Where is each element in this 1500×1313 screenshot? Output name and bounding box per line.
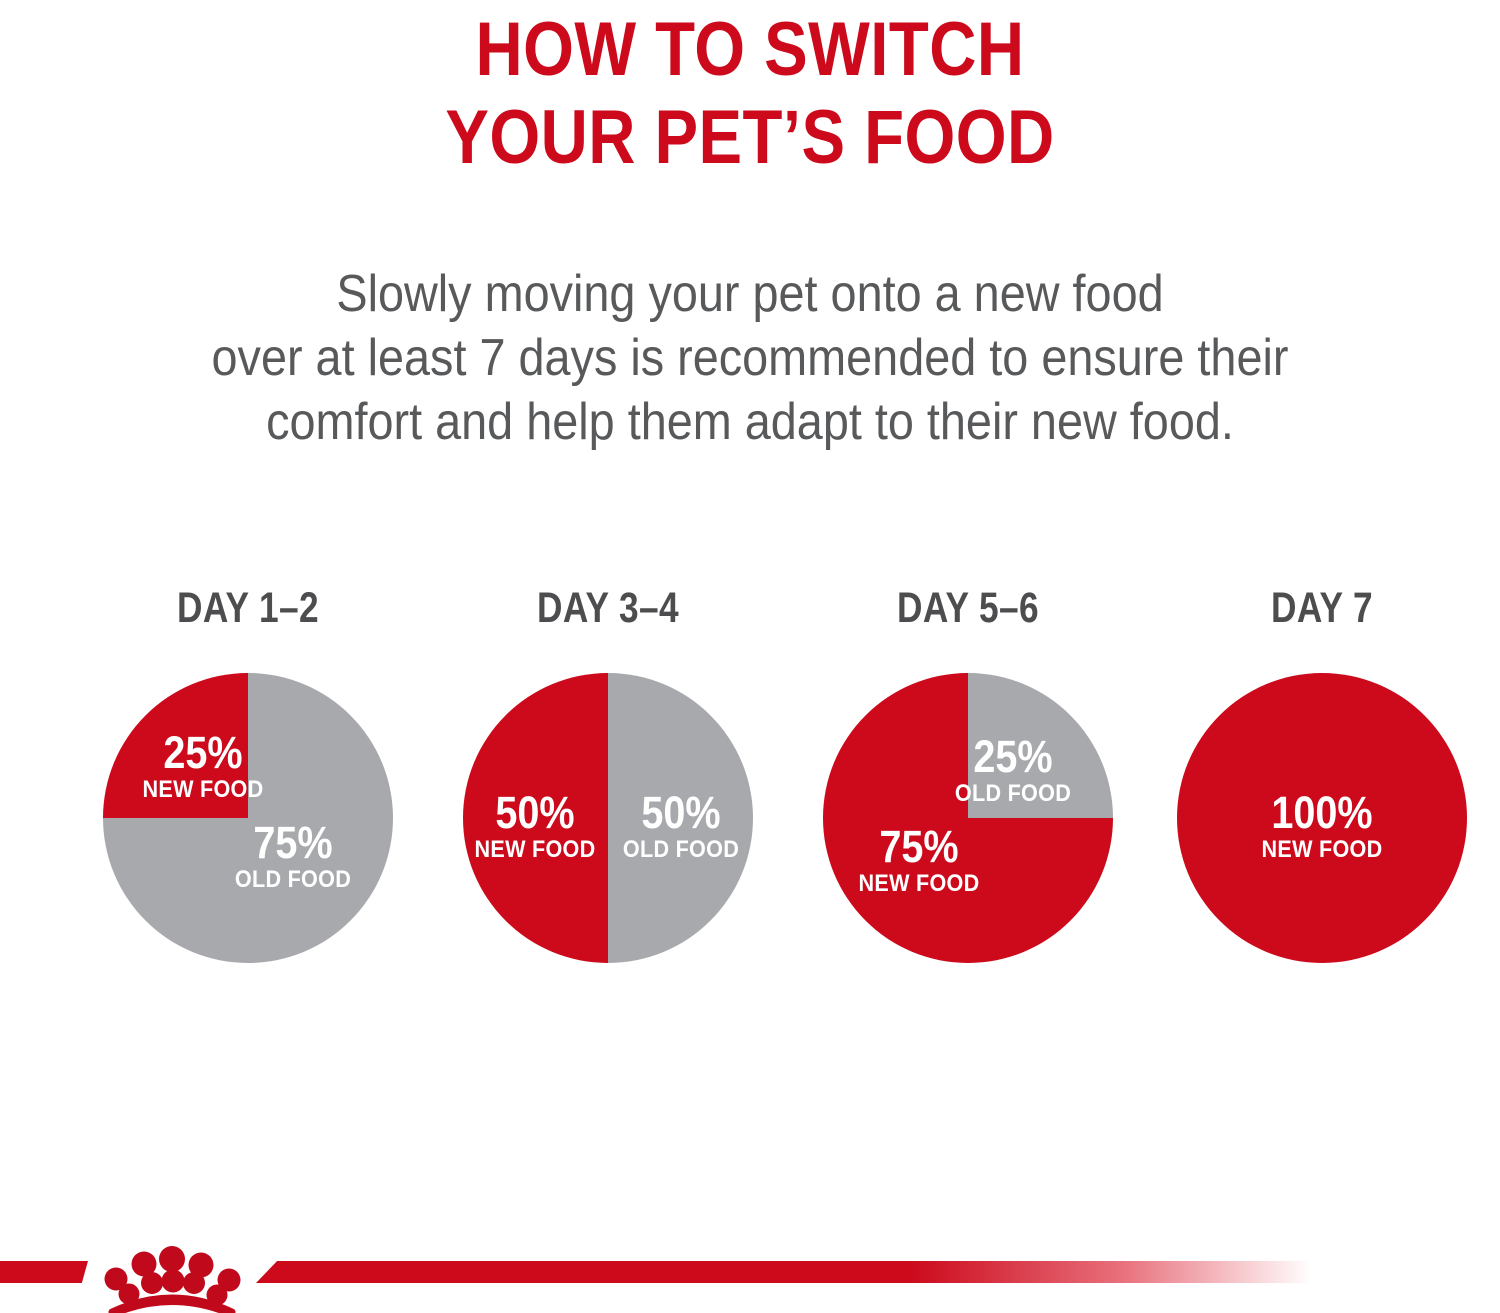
intro-line-2: over at least 7 days is recommended to e… xyxy=(75,326,1425,390)
pie-slice-new-food xyxy=(103,673,248,818)
day-label-3: DAY 5–6 xyxy=(845,585,1091,631)
day-label-4: DAY 7 xyxy=(1199,585,1445,631)
pie-group-day-1-2: DAY 1–2 25% NEW FOOD 75% OLD FOOD xyxy=(98,585,398,985)
pie-slice-old-food xyxy=(608,673,753,963)
title-line-1: HOW TO SWITCH xyxy=(105,6,1395,94)
intro-line-3: comfort and help them adapt to their new… xyxy=(75,390,1425,454)
royal-canin-crown-icon xyxy=(96,1240,248,1313)
pie-group-day-7: DAY 7 100% NEW FOOD xyxy=(1172,585,1472,985)
pie-slice-old-food xyxy=(968,673,1113,818)
day-label-2: DAY 3–4 xyxy=(485,585,731,631)
pie-group-day-5-6: DAY 5–6 25% OLD FOOD 75% NEW FOOD xyxy=(818,585,1118,985)
footer-rule-left xyxy=(0,1261,88,1283)
intro-paragraph: Slowly moving your pet onto a new food o… xyxy=(0,262,1500,454)
footer xyxy=(0,1240,1500,1313)
intro-line-1: Slowly moving your pet onto a new food xyxy=(75,262,1425,326)
pie-slice-new-food xyxy=(1177,673,1467,963)
pie-slice-new-food xyxy=(463,673,608,963)
pie-chart-row: DAY 1–2 25% NEW FOOD 75% OLD FOOD DAY 3–… xyxy=(0,585,1500,985)
pie-chart-day-5-6: 25% OLD FOOD 75% NEW FOOD xyxy=(823,673,1113,963)
pie-chart-day-1-2: 25% NEW FOOD 75% OLD FOOD xyxy=(103,673,393,963)
pie-group-day-3-4: DAY 3–4 50% NEW FOOD 50% OLD FOOD xyxy=(458,585,758,985)
day-label-1: DAY 1–2 xyxy=(125,585,371,631)
footer-rule-right xyxy=(256,1261,1312,1283)
title-line-2: YOUR PET’S FOOD xyxy=(105,94,1395,182)
pie-chart-day-3-4: 50% NEW FOOD 50% OLD FOOD xyxy=(463,673,753,963)
pie-chart-day-7: 100% NEW FOOD xyxy=(1177,673,1467,963)
page-title: HOW TO SWITCH YOUR PET’S FOOD xyxy=(0,6,1500,182)
